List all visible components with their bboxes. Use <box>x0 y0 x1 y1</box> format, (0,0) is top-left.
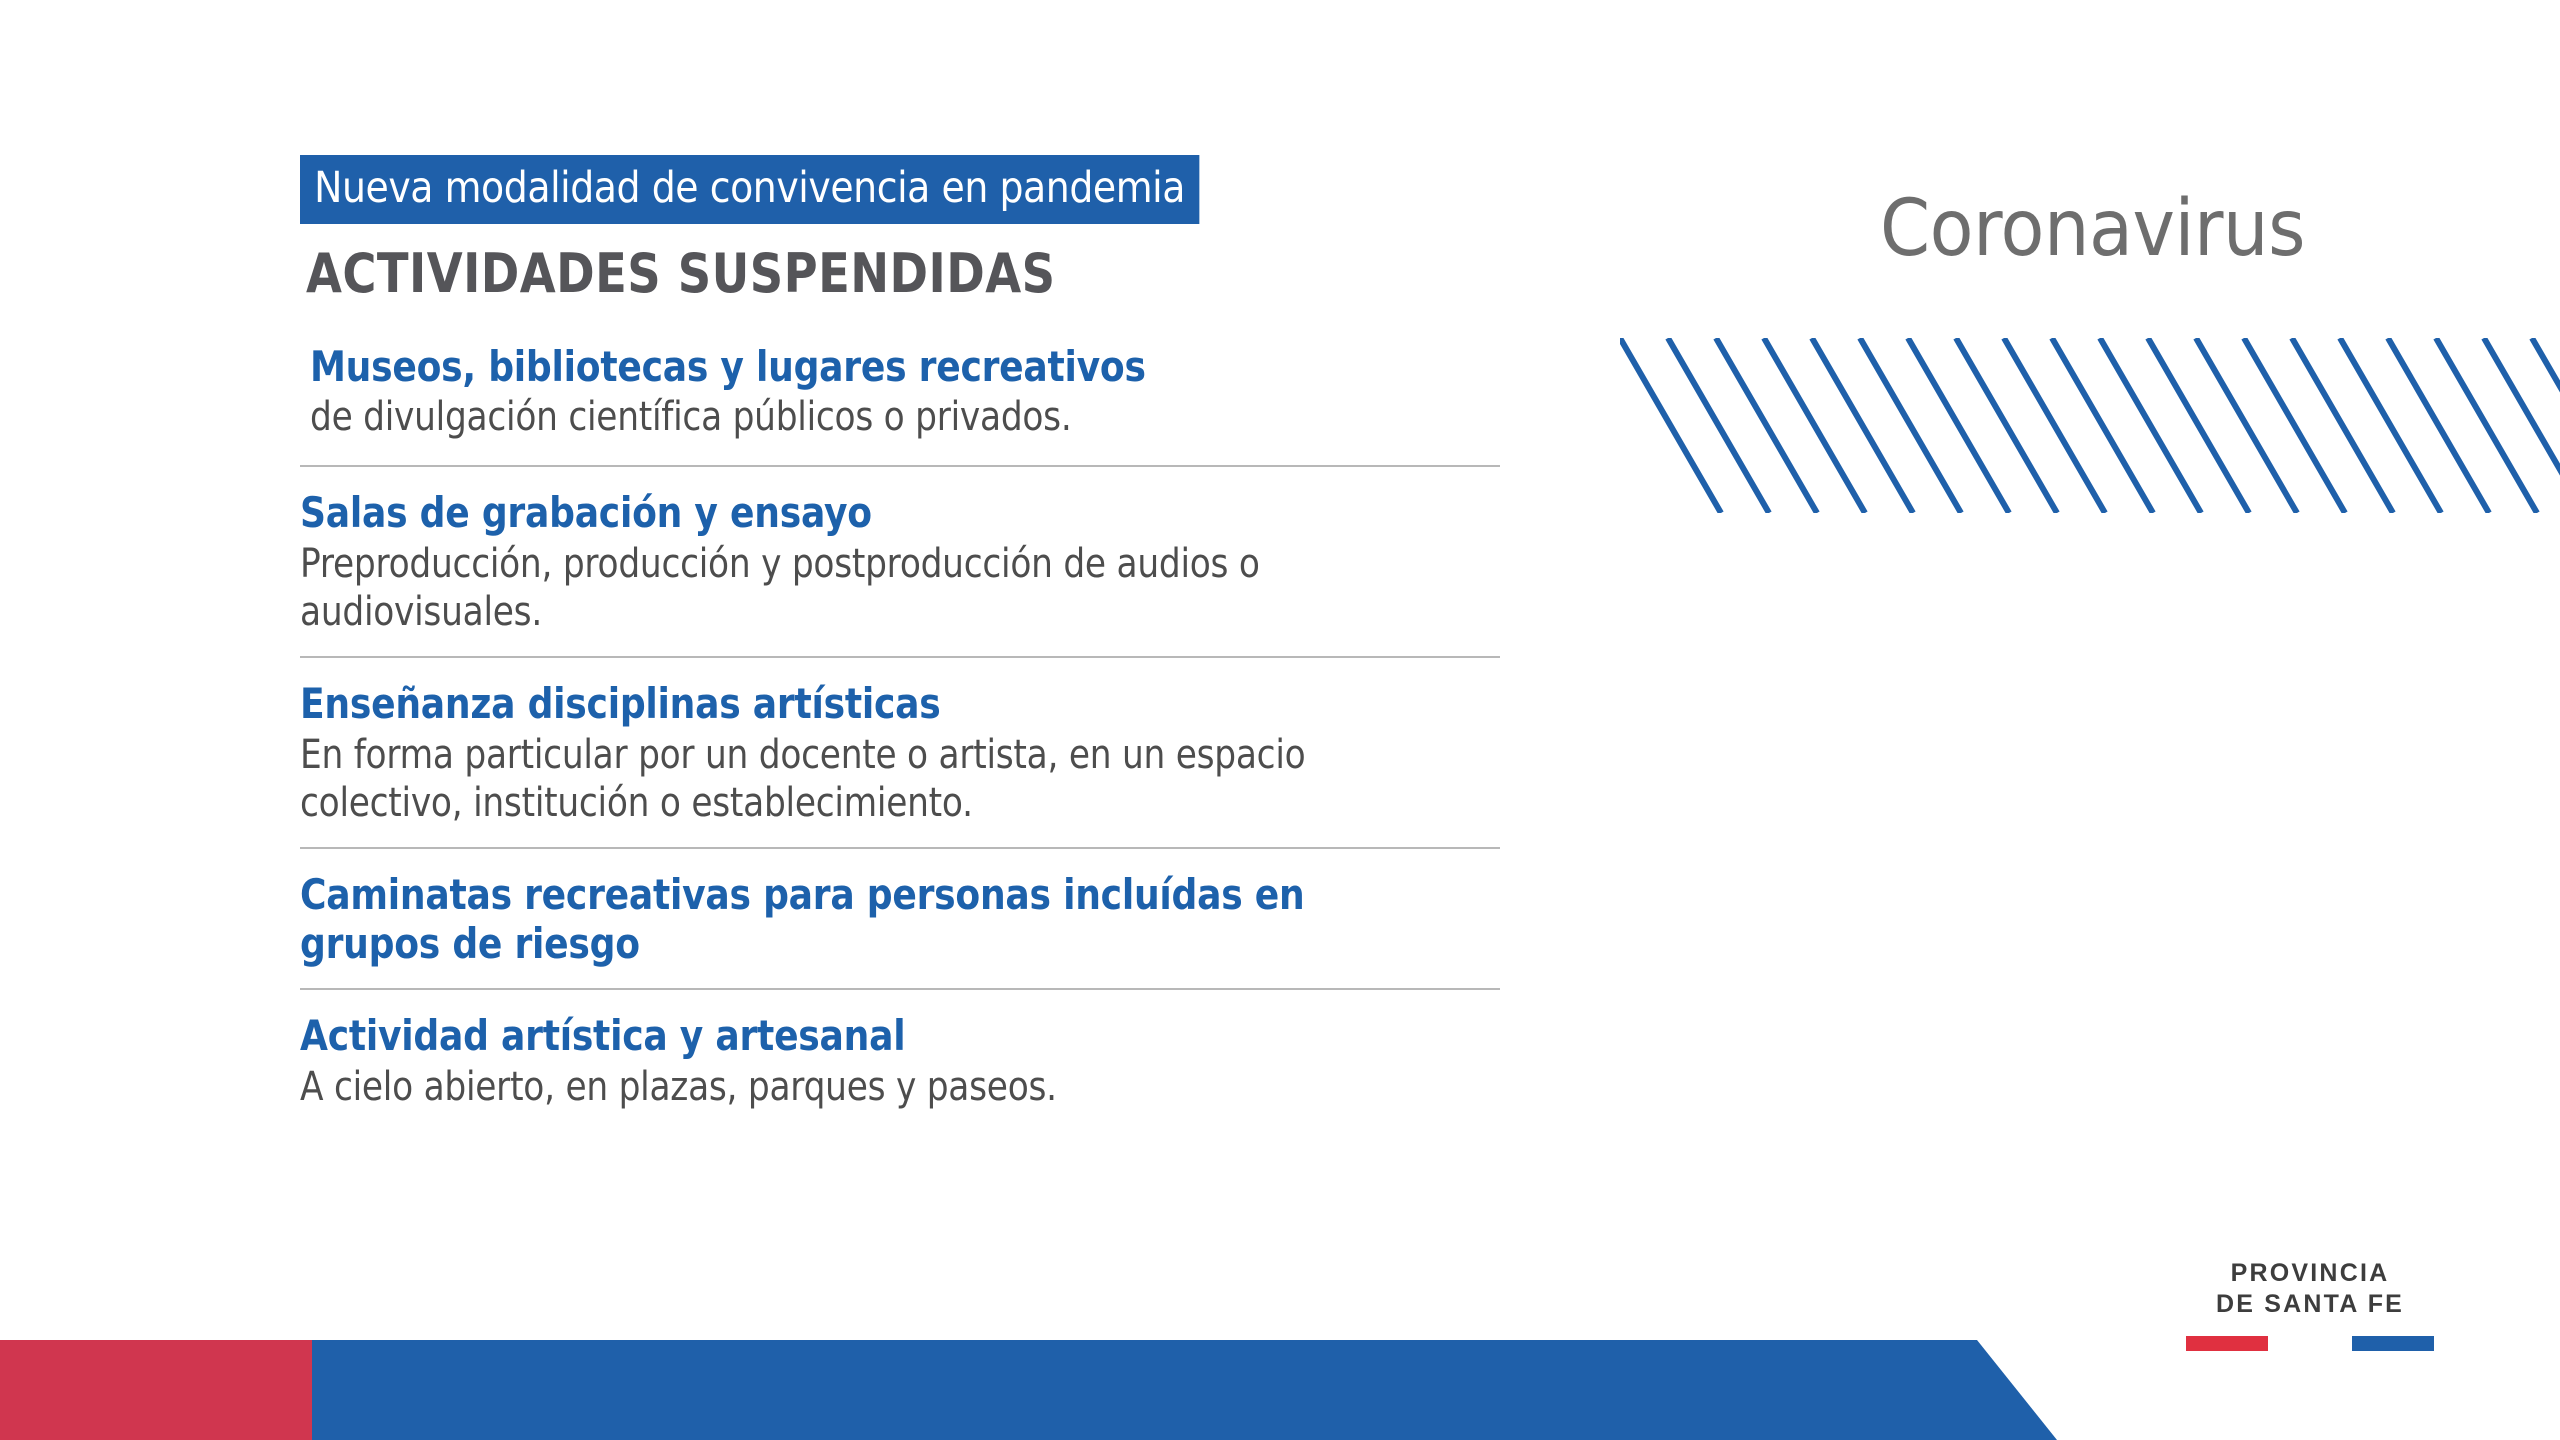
page-title: ACTIVIDADES SUSPENDIDAS <box>306 246 1333 303</box>
activity-heading: Enseñanza disciplinas artísticas <box>300 680 1332 729</box>
bottom-bar-blue-segment <box>312 1340 2057 1440</box>
activity-description: de divulgación científica públicos o pri… <box>310 393 1333 441</box>
logo-line-1: PROVINCIA <box>2180 1258 2440 1289</box>
activity-heading: Museos, bibliotecas y lugares recreativo… <box>310 343 1333 392</box>
brand-title: Coronavirus <box>1880 190 2305 268</box>
list-item: Caminatas recreativas para personas incl… <box>300 847 1500 968</box>
activity-list: Museos, bibliotecas y lugares recreativo… <box>300 343 1500 1117</box>
activity-description: En forma particular por un docente o art… <box>300 731 1332 827</box>
bottom-bar-red-segment <box>0 1340 312 1440</box>
diagonal-stripes-svg <box>1620 338 2560 513</box>
activity-heading: Caminatas recreativas para personas incl… <box>300 871 1332 968</box>
list-item: Salas de grabación y ensayo Preproducció… <box>300 465 1500 636</box>
bottom-bar <box>0 1340 2560 1440</box>
logo-line-2: DE SANTA FE <box>2180 1289 2440 1320</box>
eyebrow-badge: Nueva modalidad de convivencia en pandem… <box>300 155 1199 224</box>
activity-heading: Salas de grabación y ensayo <box>300 489 1332 538</box>
provincia-de-santa-fe-logo: PROVINCIA DE SANTA FE <box>2180 1258 2440 1351</box>
activity-description: A cielo abierto, en plazas, parques y pa… <box>300 1063 1332 1111</box>
list-item: Enseñanza disciplinas artísticas En form… <box>300 656 1500 827</box>
list-item: Museos, bibliotecas y lugares recreativo… <box>300 343 1500 442</box>
list-item: Actividad artística y artesanal A cielo … <box>300 988 1500 1117</box>
diagonal-stripes-decoration <box>1620 338 2560 513</box>
content-column: Nueva modalidad de convivencia en pandem… <box>300 155 1500 1117</box>
activity-description: Preproducción, producción y postproducci… <box>300 540 1332 636</box>
activity-heading: Actividad artística y artesanal <box>300 1012 1332 1061</box>
slide-canvas: Nueva modalidad de convivencia en pandem… <box>0 0 2560 1440</box>
